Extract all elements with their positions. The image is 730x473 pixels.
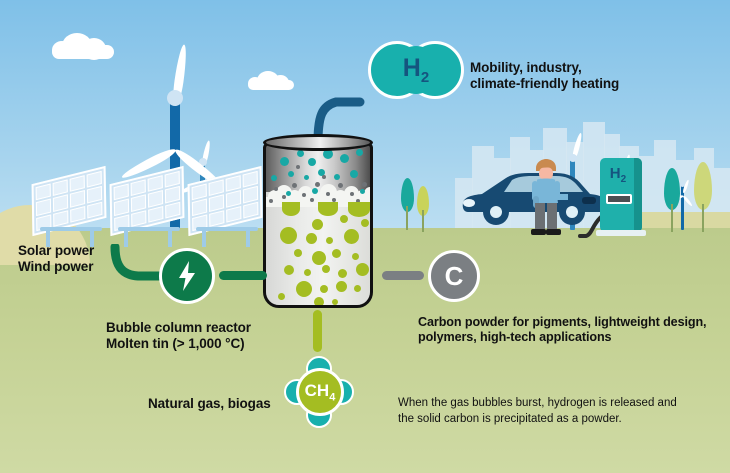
methane-bubble [354,285,361,292]
methane-bubble [306,233,317,244]
power-to-reactor-connector [219,271,267,280]
reactor-label-line-2: Molten tin (> 1,000 °C) [106,336,251,352]
feedstock-label: Natural gas, biogas [148,396,271,412]
solar-panel-3 [188,175,272,235]
methane-bubble [318,202,338,216]
person-illustration [524,158,568,238]
carbon-particle [282,195,286,199]
carbon-particle [362,182,367,187]
ch4-symbol: CH [305,381,330,400]
solar-panel-1 [32,175,116,235]
methane-bubble [312,251,326,265]
h2-subscript: 2 [421,69,429,86]
carbon-particle [322,175,326,179]
methane-inlet-connector [313,310,322,352]
methane-bubble [296,281,312,297]
tree-2 [414,186,432,232]
hydrogen-bubble [360,189,365,194]
hydrogen-bubble [340,154,349,163]
reactor-body [263,142,373,308]
carbon-use-line-1: Carbon powder for pigments, lightweight … [418,315,718,330]
methane-bubble [332,299,338,305]
process-note-line-1: When the gas bubbles burst, hydrogen is … [398,396,698,412]
carbon-particle [296,165,300,169]
carbon-badge[interactable]: C [428,250,480,302]
hydrogen-bubble [334,174,340,180]
hydrogen-bubble [350,170,358,178]
methane-bubble [294,249,302,257]
hydrogen-bubble [297,150,304,157]
hydrogen-bubble [280,157,289,166]
carbon-use-line-2: polymers, high-tech applications [418,330,718,345]
hydrogen-bubble [304,175,309,180]
methane-bubble [352,253,359,260]
process-note-line-2: the solid carbon is precipitated as a po… [398,412,698,428]
hydrogen-bubble [356,149,363,156]
station-h2-subscript: 2 [621,174,627,185]
carbon-particle [269,199,273,203]
hydrogen-use-line-2: climate-friendly heating [470,76,700,92]
solar-power-line: Solar power [18,243,94,259]
methane-bubble [278,293,285,300]
methane-bubble [320,285,328,293]
process-note: When the gas bubbles burst, hydrogen is … [398,396,698,427]
carbon-symbol: C [445,263,464,289]
feedstock-text: Natural gas, biogas [148,396,271,411]
reactor-label: Bubble column reactor Molten tin (> 1,00… [106,320,251,353]
hydrogen-bubble [308,158,316,166]
carbon-particle [326,192,330,196]
tree-5 [690,162,716,232]
methane-bubble [322,265,330,273]
carbon-particle [302,193,306,197]
infographic-canvas: H2 H2 Mobility, industry, climate-friend… [0,0,730,473]
methane-bubble [280,227,297,244]
h2-badge-label: H2 [368,54,464,86]
hydrogen-use-line-1: Mobility, industry, [470,60,700,76]
carbon-particle [315,182,320,187]
h2-fuel-station[interactable]: H2 [600,158,642,236]
wind-power-line: Wind power [18,259,94,275]
methane-bubble [348,202,370,217]
methane-bubble [338,269,347,278]
carbon-particle [338,183,343,188]
methane-bubble [304,269,311,276]
station-base [596,230,646,236]
hydrogen-bubble [288,171,294,177]
hydrogen-bubble [271,175,277,181]
station-display [606,194,632,204]
methane-bubble [344,229,359,244]
carbon-particle [310,198,314,202]
carbon-particle [274,187,278,191]
ch4-molecule-badge[interactable]: CH4 [288,356,348,430]
ch4-badge-label: CH4 [296,381,344,403]
solar-panel-2 [110,175,194,235]
methane-bubble [336,281,347,292]
ch4-subscript: 4 [329,391,335,403]
power-badge[interactable] [159,248,215,304]
lightning-bolt-icon [176,260,198,292]
methane-bubble [314,297,324,307]
bubble-column-reactor [263,134,373,308]
station-h2-label: H2 [600,165,636,185]
methane-bubble [361,219,369,227]
hydrogen-bubble [312,188,318,194]
cloud-icon-1 [52,45,114,59]
station-h2-symbol: H [610,165,621,182]
reactor-rim [263,134,373,151]
reactor-to-carbon-connector [382,271,424,280]
methane-bubble [340,215,348,223]
methane-bubble [326,237,333,244]
hydrogen-bubble [286,191,291,196]
h2-symbol: H [403,54,421,82]
carbon-use-label: Carbon powder for pigments, lightweight … [418,315,718,346]
cloud-icon-2 [248,80,294,90]
hydrogen-use-label: Mobility, industry, climate-friendly hea… [470,60,700,93]
methane-bubble [332,249,341,258]
methane-bubble [282,202,300,216]
reactor-label-line-1: Bubble column reactor [106,320,251,336]
tree-4 [660,168,684,232]
methane-bubble [312,219,323,230]
carbon-particle [350,192,354,196]
carbon-particle [292,183,297,188]
renewable-energy-label: Solar power Wind power [18,243,94,276]
methane-bubble [284,265,294,275]
methane-bubble [356,263,369,276]
h2-molecule-badge[interactable]: H2 [368,38,464,104]
